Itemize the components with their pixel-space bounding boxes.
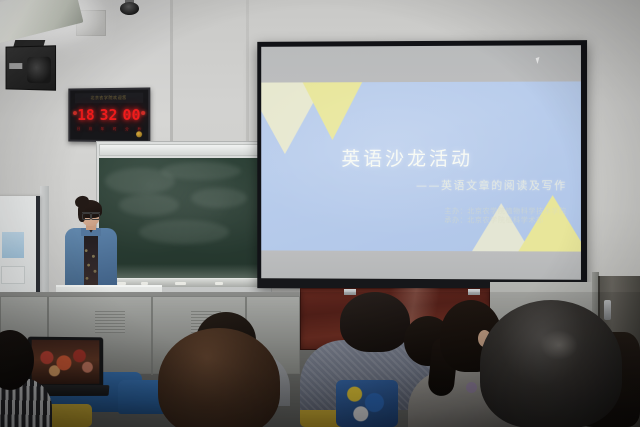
slide-organizer-line-2: 承办：北京农学院植科学术部 bbox=[444, 216, 566, 225]
ceiling-dome-camera-icon bbox=[120, 2, 139, 15]
chalkboard-top-rail bbox=[99, 144, 269, 156]
presenter-shirt-pattern bbox=[83, 244, 99, 288]
slide-organizer-block: 主办：北京农学院植物科学技术学院 承办：北京农学院植科学术部 bbox=[444, 207, 566, 225]
clock-unit-label: 月 bbox=[89, 127, 92, 132]
wood-panel-clip bbox=[344, 289, 356, 295]
notice-slip-white bbox=[1, 266, 25, 284]
presenter-glasses-icon bbox=[82, 212, 100, 217]
clock-knob bbox=[136, 131, 142, 137]
decor-triangle-yellow-top bbox=[303, 82, 363, 140]
slide-subtitle: ——英语文章的阅读及写作 bbox=[416, 177, 567, 193]
screen-letterbox-top bbox=[261, 45, 581, 82]
led-wall-clock: 北京农学院欢迎您 18 32 00 日 月 年 时 分 秒 bbox=[68, 87, 150, 142]
chalk-smudge bbox=[161, 162, 241, 180]
chalk-piece bbox=[175, 282, 186, 285]
clock-hours: 18 bbox=[77, 106, 94, 124]
notice-slip bbox=[2, 232, 24, 258]
screen-letterbox-bottom bbox=[261, 250, 581, 279]
clock-seconds: 00 bbox=[122, 106, 140, 124]
projection-screen-surface: 英语沙龙活动 ——英语文章的阅读及写作 主办：北京农学院植物科学技术学院 承办：… bbox=[261, 45, 581, 280]
chalkboard bbox=[99, 158, 269, 280]
audience-backpack bbox=[336, 380, 398, 427]
chalk-piece bbox=[215, 282, 223, 285]
slide-title: 英语沙龙活动 bbox=[261, 144, 554, 171]
wood-panel-clip bbox=[468, 289, 480, 295]
clock-unit-label: 时 bbox=[113, 127, 116, 132]
speaker-cone bbox=[27, 57, 51, 84]
clock-minutes: 32 bbox=[100, 106, 118, 124]
speaker-label-tag bbox=[9, 63, 22, 69]
locker-vent bbox=[95, 311, 125, 333]
locker-divider bbox=[151, 297, 153, 375]
clock-time-display: 18 32 00 bbox=[76, 105, 142, 125]
presentation-slide: 英语沙龙活动 ——英语文章的阅读及写作 主办：北京农学院植物科学技术学院 承办：… bbox=[261, 81, 581, 251]
audience-head-foreground bbox=[480, 300, 622, 427]
chalk-smudge bbox=[119, 194, 179, 216]
door-handle[interactable] bbox=[604, 300, 611, 320]
laptop-screen bbox=[32, 340, 100, 385]
audience-hair-clip bbox=[466, 382, 477, 393]
presenter-speaker bbox=[63, 199, 119, 297]
chalk-smudge bbox=[191, 188, 247, 208]
clock-header-text: 北京农学院欢迎您 bbox=[90, 95, 126, 101]
classroom-photo-scene: 北京农学院欢迎您 18 32 00 日 月 年 时 分 秒 bbox=[0, 0, 640, 427]
audience-head-foreground bbox=[158, 328, 280, 427]
clock-unit-label: 日 bbox=[77, 127, 80, 132]
clock-unit-label: 分 bbox=[125, 127, 129, 132]
wall-speaker-icon bbox=[6, 45, 57, 90]
audience-hair-whorl bbox=[540, 330, 578, 360]
clock-unit-label: 年 bbox=[101, 127, 104, 132]
presenter-jacket-right bbox=[98, 228, 117, 290]
clock-unit-row: 日 月 年 时 分 秒 bbox=[77, 126, 141, 133]
slide-organizer-line-1: 主办：北京农学院植物科学技术学院 bbox=[444, 207, 566, 216]
projection-screen: 英语沙龙活动 ——英语文章的阅读及写作 主办：北京农学院植物科学技术学院 承办：… bbox=[257, 40, 587, 290]
chalk-smudge bbox=[139, 220, 229, 244]
clock-header: 北京农学院欢迎您 bbox=[75, 93, 143, 104]
mouse-cursor-icon bbox=[536, 57, 542, 64]
audience-head bbox=[340, 292, 410, 352]
presenter-jacket-left bbox=[65, 228, 84, 290]
